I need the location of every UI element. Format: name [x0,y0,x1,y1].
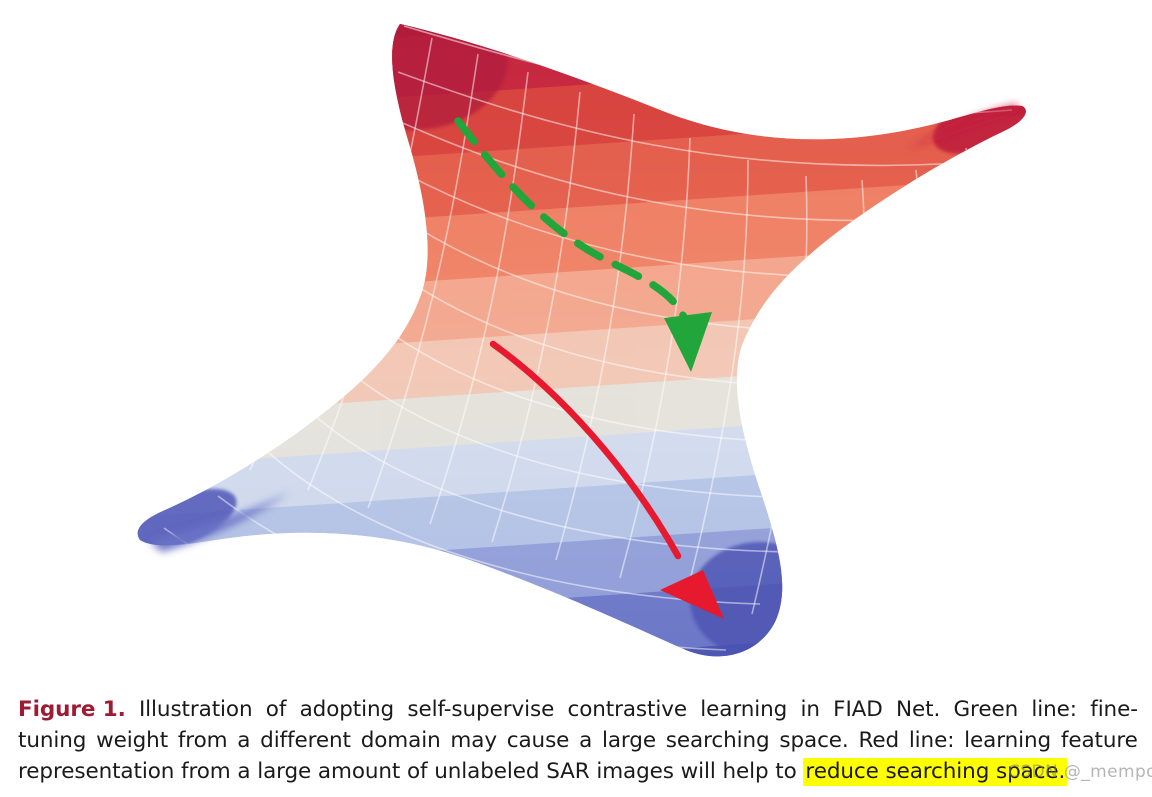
saddle-surface-svg [0,0,1152,690]
caption-text: representation from a large amount of un… [18,759,803,784]
saddle-surface-plot [0,0,1152,690]
caption-word: line: [909,725,955,756]
caption-word: adopting [300,694,395,725]
figure-number-label: Figure 1. [18,694,126,725]
caption-word: learning [700,694,787,725]
caption-word: different [260,725,351,756]
caption-word: weight [96,725,168,756]
caption-word: FIAD [833,694,883,725]
caption-line-2: tuning weight from a different domain ma… [18,725,1138,756]
caption-word: Green [954,694,1019,725]
caption-word: Red [858,725,899,756]
caption-word: a [237,725,250,756]
caption-word: in [800,694,819,725]
caption-word: line: [1031,694,1077,725]
caption-word: self-supervise [407,694,554,725]
surface-color-bands [60,0,1100,690]
caption-line-1: Figure 1. Illustration of adopting self-… [18,694,1138,725]
caption-word: a [579,725,592,756]
caption-word: feature [1061,725,1138,756]
figure-page: Figure 1. Illustration of adopting self-… [0,0,1152,797]
caption-word: domain [361,725,441,756]
caption-word: tuning [18,725,86,756]
caption-word: space. [779,725,848,756]
caption-word: large [602,725,656,756]
caption-word: Illustration [139,694,253,725]
caption-word: contrastive [567,694,687,725]
caption-word: may [450,725,497,756]
caption-word: cause [507,725,570,756]
caption-line-3: representation from a large amount of un… [18,756,1138,787]
highlighted-phrase: reduce searching space. [803,758,1067,786]
caption-word: of [266,694,287,725]
caption-word: searching [666,725,770,756]
surface-body [60,0,1100,690]
caption-word: learning [964,725,1051,756]
caption-word: Net. [896,694,940,725]
figure-caption: Figure 1. Illustration of adopting self-… [18,694,1138,787]
caption-word: from [178,725,228,756]
caption-word: fine- [1090,694,1138,725]
